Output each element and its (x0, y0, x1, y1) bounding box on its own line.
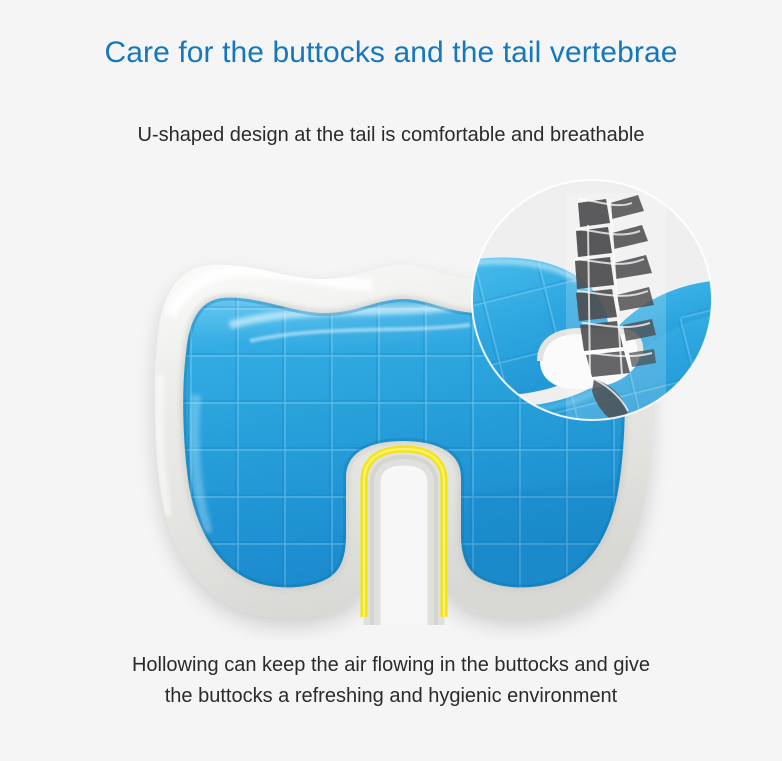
subtitle-text: U-shaped design at the tail is comfortab… (0, 121, 782, 149)
caption-block: Hollowing can keep the air flowing in th… (0, 650, 782, 712)
product-feature-page: Care for the buttocks and the tail verte… (0, 0, 782, 761)
product-illustration (0, 165, 782, 640)
product-image-stage (0, 165, 782, 640)
caption-line-2: the buttocks a refreshing and hygienic e… (0, 681, 782, 712)
caption-line-1: Hollowing can keep the air flowing in th… (0, 650, 782, 681)
u-shaped-cutout (364, 449, 444, 625)
page-title: Care for the buttocks and the tail verte… (0, 34, 782, 72)
